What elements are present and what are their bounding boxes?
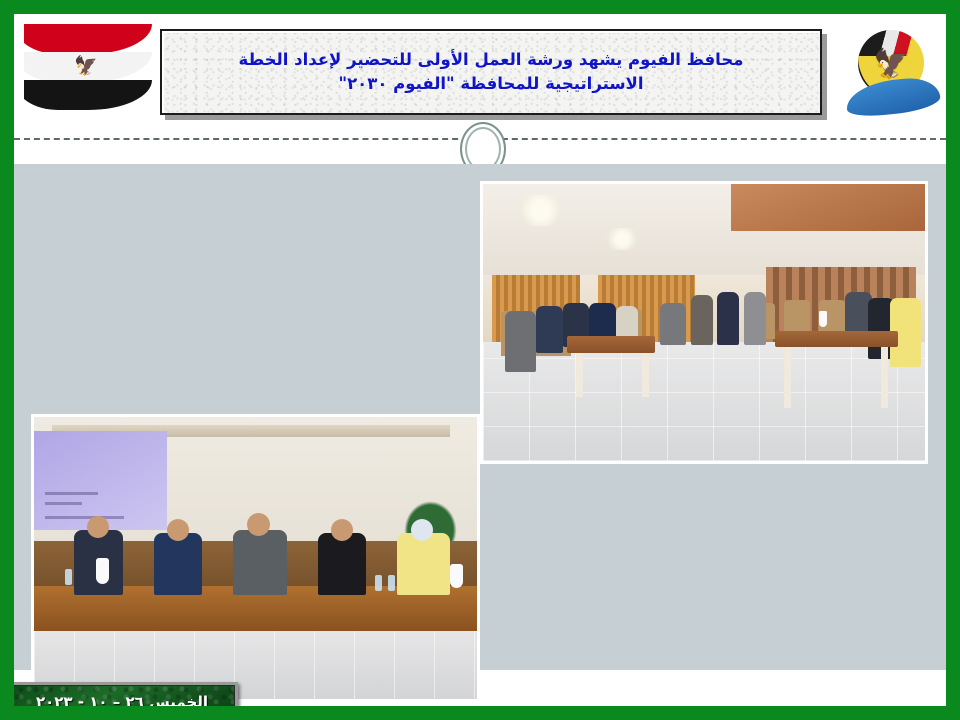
hall-attendee	[691, 295, 713, 345]
chandelier-icon	[602, 228, 642, 250]
flower-vase	[819, 311, 827, 327]
hall-table-leg	[642, 353, 649, 397]
date-banner: الخميس ٢٦ – ١٠ - ٢٠٢٣	[14, 682, 238, 706]
presentation-slide: 🦅 محافظ الفيوم يشهد ورشة العمل الأولى لل…	[0, 0, 960, 720]
panel-speaker-main	[233, 530, 286, 595]
hall-table	[567, 336, 655, 353]
screen-text-line	[45, 516, 125, 519]
water-bottle	[388, 575, 395, 591]
egypt-flag-icon: 🦅	[14, 16, 152, 120]
header-divider	[14, 134, 946, 164]
panel-speaker	[397, 533, 450, 595]
slide-title-plaque: محافظ الفيوم يشهد ورشة العمل الأولى للتح…	[160, 29, 822, 115]
panel-speaker	[318, 533, 367, 595]
hall-attendee	[536, 306, 563, 353]
chandelier-icon	[514, 195, 567, 225]
hall-table-leg	[576, 353, 583, 397]
flower-vase	[96, 558, 109, 584]
fayoum-governorate-logo-icon: 🦅	[840, 24, 944, 128]
flag-pole-mask	[14, 16, 24, 120]
hall-ceiling-wood-panel	[731, 184, 925, 231]
flower-vase	[450, 564, 463, 588]
hall-attendee	[660, 303, 687, 345]
screen-text-line	[45, 492, 98, 495]
panel-speaker-head	[411, 519, 433, 541]
panel-speaker-head	[331, 519, 353, 541]
hall-table-leg	[881, 347, 888, 408]
slide-body	[14, 164, 946, 670]
photo-conference-hall	[480, 181, 928, 464]
eagle-icon: 🦅	[858, 40, 924, 88]
photo-panel-table	[31, 414, 480, 702]
panel-speaker-head	[87, 516, 109, 538]
hall-attendee	[505, 311, 536, 372]
hall-table	[775, 331, 899, 348]
hall-attendee	[744, 292, 766, 345]
flower-vase	[247, 502, 257, 526]
date-label: الخميس ٢٦ – ١٠ - ٢٠٢٣	[36, 693, 208, 706]
hall-marble-floor	[483, 342, 925, 461]
eagle-of-saladin-icon: 🦅	[76, 56, 98, 78]
page-title: محافظ الفيوم يشهد ورشة العمل الأولى للتح…	[239, 48, 744, 96]
flag-stripe-red	[14, 24, 152, 54]
projection-screen	[34, 431, 167, 530]
panel-speaker	[154, 533, 203, 595]
water-bottle	[65, 569, 72, 585]
panel-speaker-head	[167, 519, 189, 541]
slide-inner-frame: 🦅 محافظ الفيوم يشهد ورشة العمل الأولى لل…	[14, 14, 946, 706]
hall-attendee	[717, 292, 739, 345]
screen-text-line	[45, 502, 82, 505]
water-bottle	[375, 575, 382, 591]
flag-stripe-black	[14, 80, 152, 110]
slide-header: 🦅 محافظ الفيوم يشهد ورشة العمل الأولى لل…	[14, 14, 946, 134]
hall-table-leg	[784, 347, 791, 408]
